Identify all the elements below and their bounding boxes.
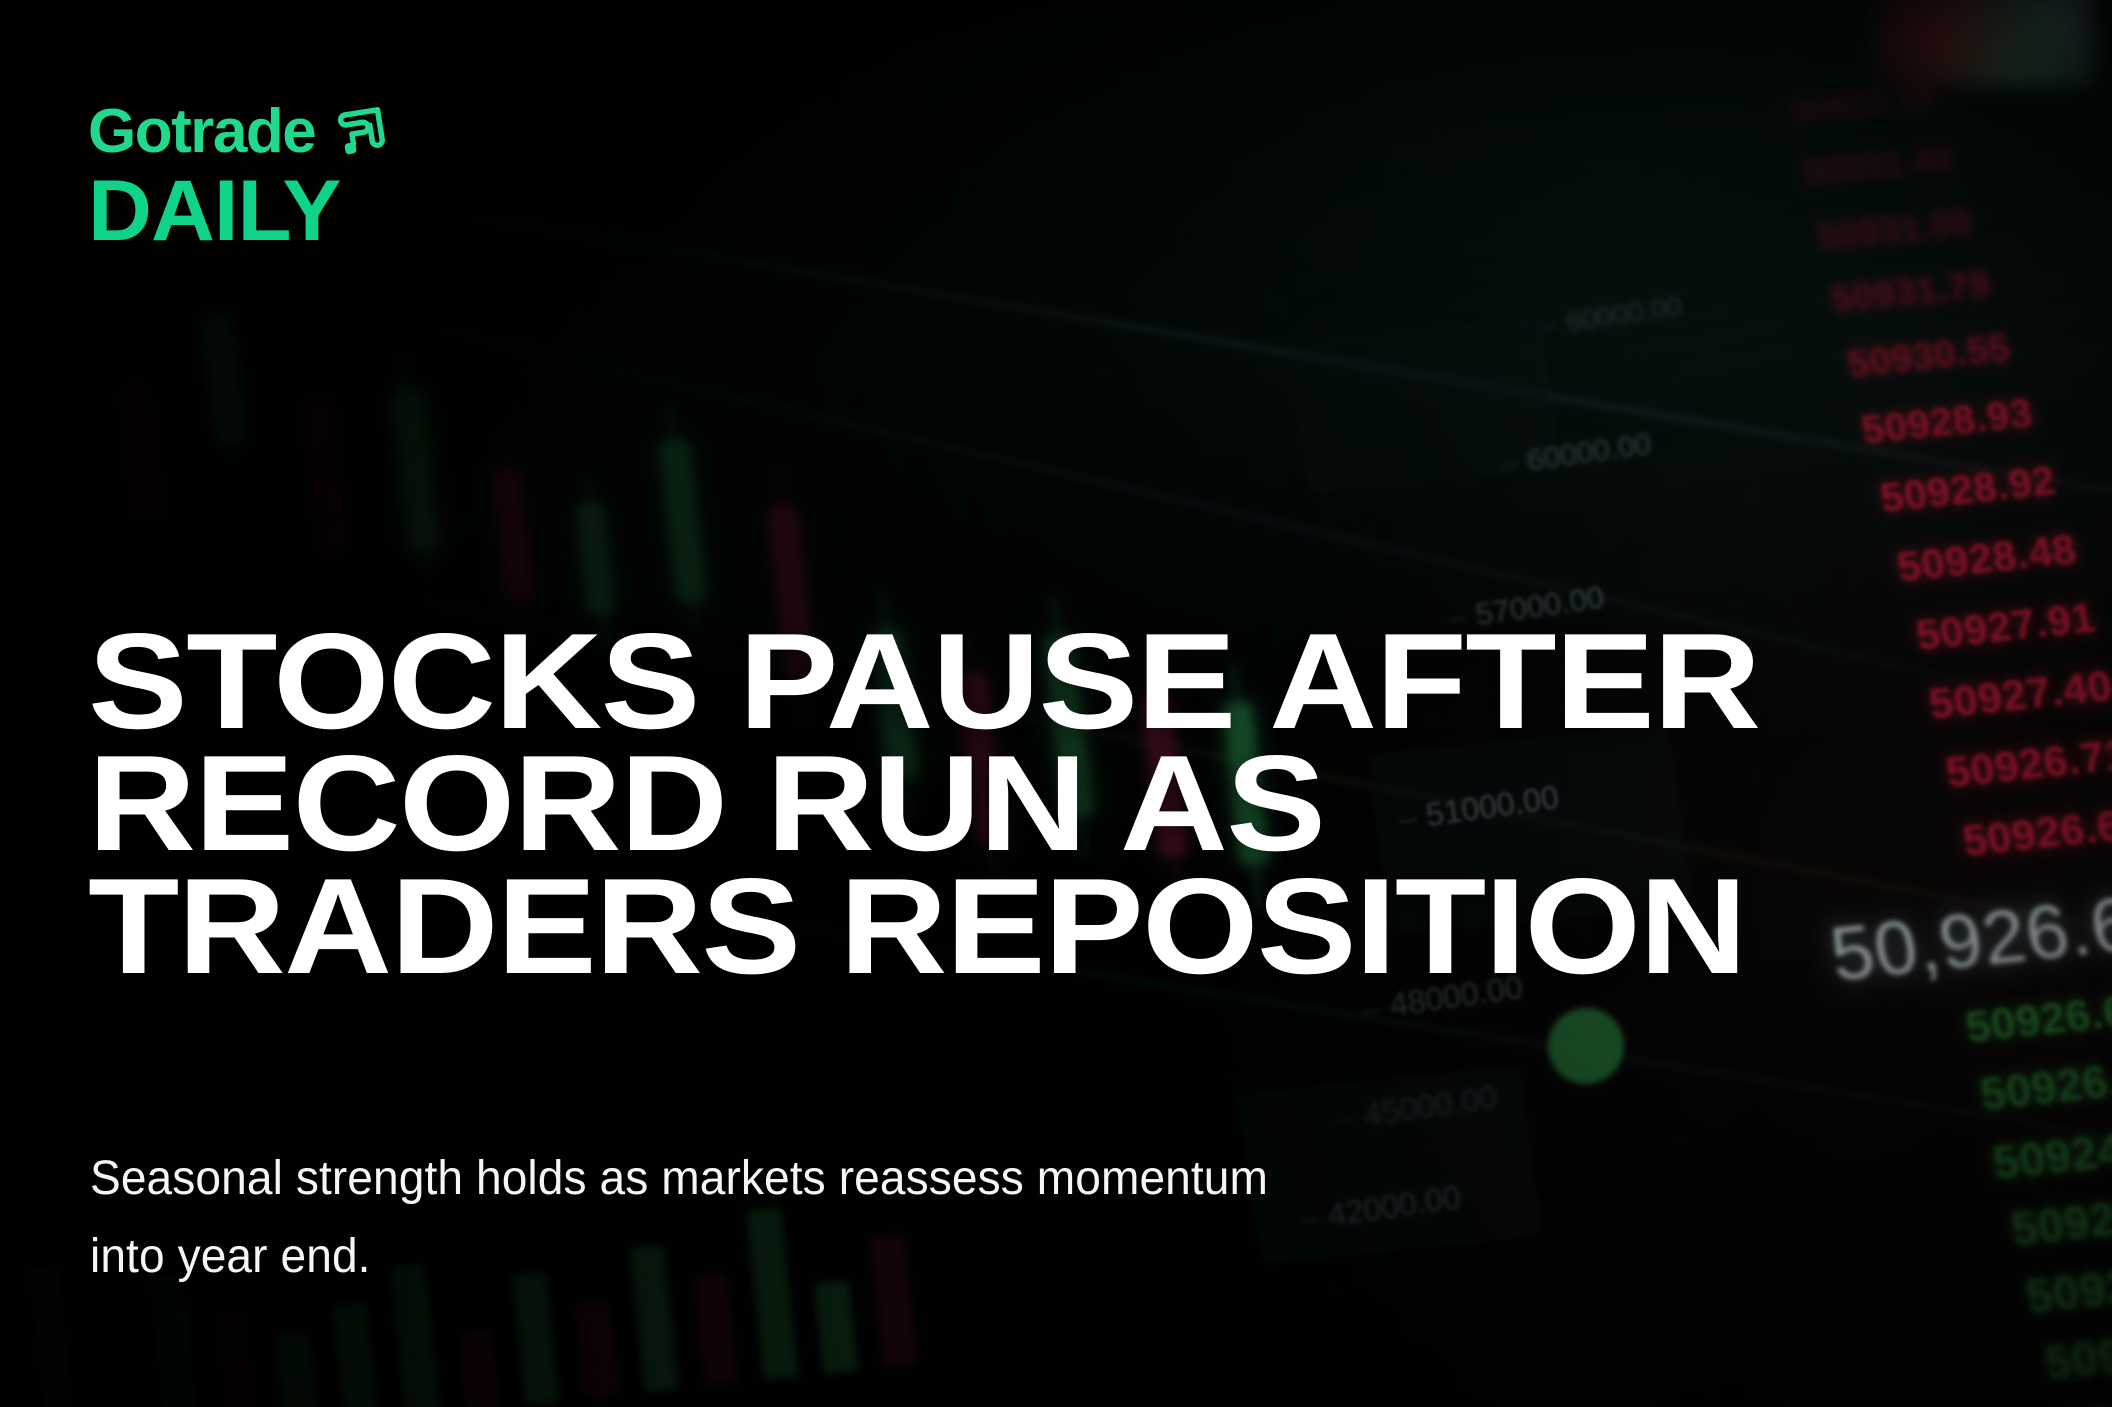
- headline-line-1: STOCKS PAUSE AFTER: [88, 620, 2024, 742]
- headline-line-2: RECORD RUN AS: [88, 742, 2024, 864]
- content-layer: Gotrade DAILY STOCKS PAUSE AFTER RECORD …: [0, 0, 2112, 1407]
- page-title: STOCKS PAUSE AFTER RECORD RUN AS TRADERS…: [88, 620, 2024, 987]
- bar-chart-icon: [333, 96, 397, 158]
- article-subtitle: Seasonal strength holds as markets reass…: [90, 1140, 1290, 1296]
- brand-logo[interactable]: Gotrade DAILY: [88, 96, 397, 254]
- newsletter-card: –60000.00 –60000.00 –57000.00 –51000.00 …: [0, 0, 2112, 1407]
- brand-logo-row: Gotrade: [88, 96, 397, 162]
- brand-name: Gotrade: [88, 102, 315, 162]
- brand-edition: DAILY: [88, 168, 406, 254]
- headline-line-3: TRADERS REPOSITION: [88, 865, 2024, 987]
